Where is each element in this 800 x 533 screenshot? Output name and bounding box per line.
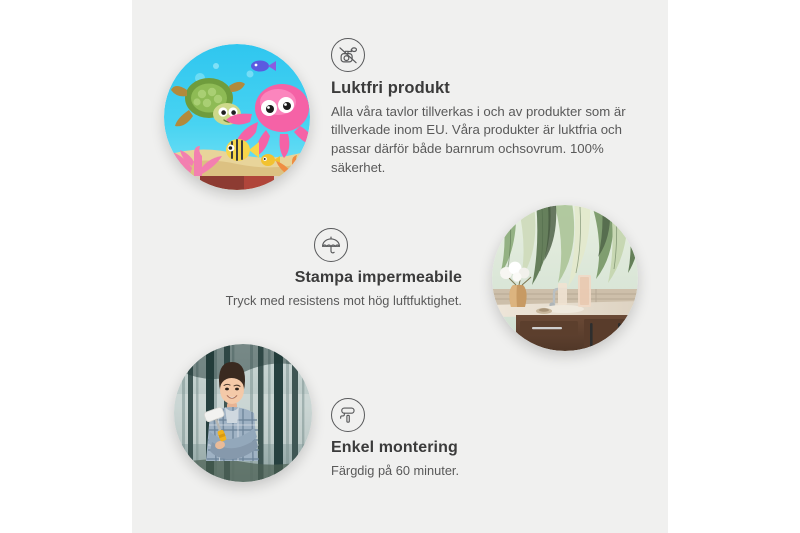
feature-title: Luktfri produkt bbox=[331, 78, 631, 99]
feature-body: Tryck med resistens mot hög luftfuktighe… bbox=[200, 292, 462, 310]
no-odour-spray-bottle-icon bbox=[331, 38, 365, 72]
woman-with-paint-roller-photo bbox=[174, 344, 312, 482]
promo-banner: Luktfri produkt Alla våra tavlor tillver… bbox=[0, 0, 800, 533]
feature-easy-install: Enkel montering Färgdig på 60 minuter. bbox=[331, 398, 581, 480]
feature-body: Alla våra tavlor tillverkas i och av pro… bbox=[331, 103, 631, 178]
bathroom-tropical-wallpaper-photo bbox=[492, 205, 638, 351]
feature-body: Färgdig på 60 minuter. bbox=[331, 462, 581, 480]
feature-waterproof: Stampa impermeabile Tryck med resistens … bbox=[200, 228, 462, 310]
underwater-cartoon-mural-photo bbox=[164, 44, 310, 190]
feature-title: Enkel montering bbox=[331, 438, 581, 458]
paint-roller-icon bbox=[331, 398, 365, 432]
feature-odourless: Luktfri produkt Alla våra tavlor tillver… bbox=[331, 38, 631, 178]
feature-title: Stampa impermeabile bbox=[200, 268, 462, 288]
umbrella-icon bbox=[314, 228, 348, 262]
